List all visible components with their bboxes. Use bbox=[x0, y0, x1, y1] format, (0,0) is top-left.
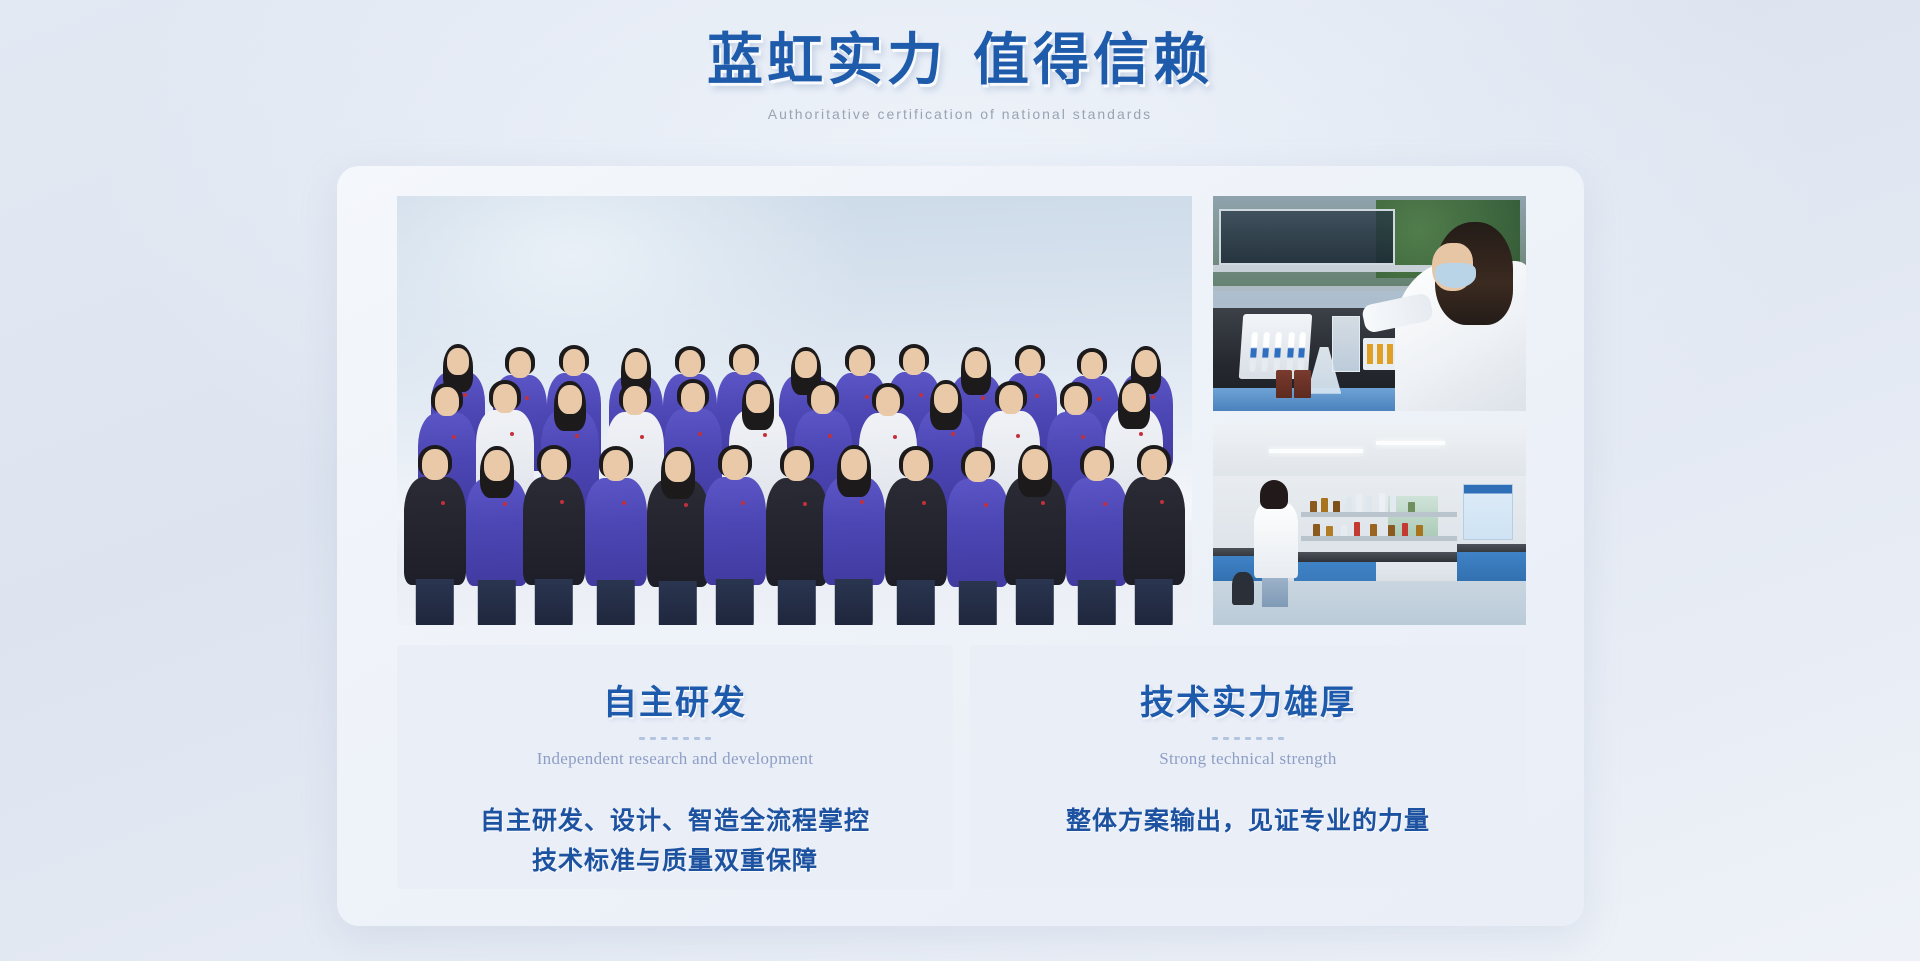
card-body-line2: 技术标准与质量双重保障 bbox=[480, 842, 870, 882]
group-photo-person bbox=[1004, 445, 1066, 623]
jacket-logo bbox=[575, 434, 579, 438]
person-legs bbox=[1015, 579, 1053, 625]
person-head bbox=[746, 384, 770, 413]
jacket-logo bbox=[893, 435, 897, 439]
content-panel: 自主研发 Independent research and developmen… bbox=[337, 166, 1584, 926]
person-head bbox=[934, 384, 958, 413]
divider-dash bbox=[694, 737, 700, 740]
lab1-glass-cabinet bbox=[1219, 209, 1394, 265]
person-head bbox=[1064, 386, 1088, 415]
person-head bbox=[603, 450, 629, 481]
group-photo-person bbox=[823, 445, 885, 623]
person-head bbox=[679, 350, 701, 377]
group-photo-person bbox=[523, 445, 585, 623]
card-subtitle: Independent research and development bbox=[537, 749, 814, 769]
divider-dash bbox=[650, 737, 656, 740]
lab2-researcher-jeans bbox=[1262, 576, 1288, 608]
jacket-logo bbox=[860, 500, 864, 504]
person-jacket bbox=[885, 478, 947, 586]
card-body: 整体方案输出，见证专业的力量 bbox=[1066, 802, 1430, 842]
page-title: 蓝虹实力值得信赖 bbox=[0, 28, 1920, 94]
reagent-bottle bbox=[1346, 497, 1352, 512]
person-head bbox=[795, 351, 817, 378]
divider-dash bbox=[1267, 737, 1273, 740]
person-head bbox=[665, 451, 691, 482]
jacket-logo bbox=[984, 503, 988, 507]
photo-gallery bbox=[397, 196, 1526, 625]
divider-dash bbox=[672, 737, 678, 740]
person-jacket bbox=[766, 478, 828, 586]
person-legs bbox=[715, 579, 753, 625]
person-legs bbox=[477, 580, 515, 625]
lab1-reagent-bottle bbox=[1294, 370, 1310, 398]
jacket-logo bbox=[640, 435, 644, 439]
lab1-pipette bbox=[1249, 332, 1258, 372]
divider-dash bbox=[1256, 737, 1262, 740]
jacket-logo bbox=[803, 502, 807, 506]
jacket-logo bbox=[828, 434, 832, 438]
promo-page: 蓝虹实力值得信赖 Authoritative certification of … bbox=[0, 0, 1920, 961]
person-head bbox=[1019, 349, 1041, 376]
lab1-pipette bbox=[1261, 332, 1270, 372]
person-legs bbox=[777, 580, 815, 625]
lab2-reagent-row-bottom bbox=[1307, 520, 1451, 536]
page-title-part2: 值得信赖 bbox=[973, 30, 1213, 92]
lab2-reagent-shelf bbox=[1301, 512, 1458, 517]
reagent-bottle bbox=[1326, 526, 1333, 536]
reagent-bottle bbox=[1390, 495, 1396, 512]
jacket-logo bbox=[698, 432, 702, 436]
feature-card-tech: 技术实力雄厚 Strong technical strength 整体方案输出，… bbox=[970, 645, 1526, 889]
card-title: 自主研发 bbox=[603, 675, 747, 724]
page-title-part1: 蓝虹实力 bbox=[707, 30, 947, 92]
lab2-researcher-hair bbox=[1260, 480, 1288, 509]
lab2-ceiling-light bbox=[1269, 449, 1363, 453]
jacket-logo bbox=[560, 500, 564, 504]
laboratory-room-photo bbox=[1213, 423, 1526, 625]
lab2-reagent-row-top bbox=[1307, 496, 1451, 512]
lab2-notice-poster bbox=[1463, 484, 1513, 541]
person-head bbox=[493, 384, 517, 413]
card-dashed-divider bbox=[639, 737, 711, 740]
divider-dash bbox=[1234, 737, 1240, 740]
person-head bbox=[1022, 449, 1048, 480]
person-head bbox=[733, 348, 755, 375]
person-legs bbox=[534, 579, 572, 626]
card-body-line1: 整体方案输出，见证专业的力量 bbox=[1066, 802, 1430, 842]
lab1-pipette bbox=[1297, 332, 1306, 372]
feature-card-rnd: 自主研发 Independent research and developmen… bbox=[397, 645, 953, 889]
reagent-bottle bbox=[1313, 524, 1320, 536]
divider-dash bbox=[683, 737, 689, 740]
person-legs bbox=[896, 580, 934, 625]
person-head bbox=[484, 450, 510, 481]
jacket-logo bbox=[1160, 500, 1164, 504]
card-dashed-divider bbox=[1212, 737, 1284, 740]
reagent-bottle bbox=[1356, 494, 1362, 512]
group-photo-person bbox=[1123, 445, 1185, 623]
person-head bbox=[681, 383, 705, 412]
group-photo-person bbox=[766, 446, 828, 624]
person-head bbox=[447, 348, 469, 375]
person-head bbox=[903, 348, 925, 375]
person-head bbox=[1081, 352, 1103, 379]
person-head bbox=[811, 385, 835, 414]
divider-dash bbox=[1223, 737, 1229, 740]
feature-cards: 自主研发 Independent research and developmen… bbox=[397, 645, 1526, 889]
person-jacket bbox=[704, 477, 766, 585]
person-head bbox=[903, 450, 929, 481]
reagent-bottle bbox=[1333, 501, 1340, 512]
jacket-logo bbox=[1041, 501, 1045, 505]
lab2-researcher bbox=[1254, 484, 1298, 605]
person-head bbox=[722, 449, 748, 480]
reagent-bottle bbox=[1388, 525, 1395, 536]
jacket-logo bbox=[1139, 432, 1143, 436]
lab1-sample-vial bbox=[1367, 344, 1373, 365]
group-photo-person bbox=[704, 445, 766, 623]
lab-technician-photo bbox=[1213, 196, 1526, 411]
jacket-logo bbox=[951, 432, 955, 436]
page-subtitle: Authoritative certification of national … bbox=[0, 106, 1920, 122]
person-jacket bbox=[1066, 478, 1128, 586]
group-photo-person bbox=[585, 446, 647, 624]
lab1-sample-vial bbox=[1377, 344, 1383, 365]
jacket-logo bbox=[503, 502, 507, 506]
divider-dash bbox=[661, 737, 667, 740]
group-photo-person bbox=[947, 447, 1009, 625]
lab1-beaker bbox=[1332, 316, 1360, 372]
lab2-researcher-coat bbox=[1254, 503, 1298, 578]
reagent-bottle bbox=[1321, 498, 1328, 512]
person-head bbox=[563, 349, 585, 376]
reagent-bottle bbox=[1354, 522, 1360, 536]
person-head bbox=[558, 385, 582, 414]
person-head bbox=[422, 449, 448, 480]
jacket-logo bbox=[510, 432, 514, 436]
person-head bbox=[876, 387, 900, 416]
person-head bbox=[965, 351, 987, 378]
person-jacket bbox=[947, 479, 1009, 587]
jacket-logo bbox=[684, 503, 688, 507]
divider-dash bbox=[705, 737, 711, 740]
person-head bbox=[1084, 450, 1110, 481]
jacket-logo bbox=[1081, 435, 1085, 439]
lab2-island-benchtop bbox=[1294, 552, 1457, 562]
divider-dash bbox=[639, 737, 645, 740]
lab1-pipette-stand bbox=[1239, 314, 1312, 379]
group-photo-person bbox=[647, 447, 709, 625]
group-photo-person bbox=[885, 446, 947, 624]
lab1-reagent-bottle bbox=[1276, 370, 1292, 398]
person-jacket bbox=[523, 477, 585, 585]
person-legs bbox=[958, 581, 996, 625]
team-group-photo bbox=[397, 196, 1192, 625]
person-legs bbox=[834, 579, 872, 626]
jacket-logo bbox=[741, 501, 745, 505]
person-head bbox=[784, 450, 810, 481]
jacket-logo bbox=[1016, 434, 1020, 438]
person-jacket bbox=[404, 477, 466, 585]
reagent-bottle bbox=[1379, 493, 1385, 512]
reagent-bottle bbox=[1310, 501, 1317, 512]
jacket-logo bbox=[922, 501, 926, 505]
lab1-scene bbox=[1213, 196, 1526, 411]
person-legs bbox=[1077, 580, 1115, 625]
page-header: 蓝虹实力值得信赖 Authoritative certification of … bbox=[0, 28, 1920, 122]
lab1-sample-vial bbox=[1387, 344, 1393, 365]
lab1-pipette bbox=[1286, 332, 1295, 372]
reagent-bottle bbox=[1370, 524, 1377, 537]
person-legs bbox=[658, 581, 696, 625]
person-head bbox=[1141, 449, 1167, 480]
person-head bbox=[1122, 383, 1146, 412]
person-head bbox=[965, 451, 991, 482]
jacket-logo bbox=[763, 433, 767, 437]
person-jacket bbox=[585, 478, 647, 586]
lab2-stool bbox=[1232, 572, 1254, 604]
jacket-logo bbox=[1103, 502, 1107, 506]
reagent-bottle bbox=[1402, 523, 1408, 536]
person-head bbox=[849, 349, 871, 376]
group-photo-person bbox=[1066, 446, 1128, 624]
reagent-bottle bbox=[1366, 496, 1372, 512]
card-body: 自主研发、设计、智造全流程掌控 技术标准与质量双重保障 bbox=[480, 802, 870, 881]
group-photo-person bbox=[404, 445, 466, 623]
card-subtitle: Strong technical strength bbox=[1159, 749, 1336, 769]
group-photo-person bbox=[466, 446, 528, 624]
person-head bbox=[1135, 350, 1157, 377]
jacket-logo bbox=[441, 501, 445, 505]
reagent-bottle bbox=[1416, 525, 1423, 536]
person-jacket bbox=[1123, 477, 1185, 585]
person-head bbox=[541, 449, 567, 480]
divider-dash bbox=[1212, 737, 1218, 740]
divider-dash bbox=[1245, 737, 1251, 740]
jacket-logo bbox=[452, 435, 456, 439]
card-title: 技术实力雄厚 bbox=[1140, 675, 1356, 724]
person-legs bbox=[1134, 579, 1172, 626]
divider-dash bbox=[1278, 737, 1284, 740]
person-head bbox=[841, 449, 867, 480]
lab2-ceiling bbox=[1213, 423, 1526, 476]
jacket-logo bbox=[622, 501, 626, 505]
reagent-bottle bbox=[1341, 525, 1347, 536]
lab1-pipette bbox=[1274, 332, 1283, 372]
card-body-line1: 自主研发、设计、智造全流程掌控 bbox=[480, 802, 870, 842]
person-head bbox=[623, 386, 647, 415]
reagent-bottle bbox=[1408, 502, 1415, 512]
person-head bbox=[435, 387, 459, 416]
lab2-ceiling-light bbox=[1376, 441, 1445, 445]
person-legs bbox=[596, 580, 634, 625]
lab2-scene bbox=[1213, 423, 1526, 625]
person-head bbox=[509, 351, 531, 378]
lab2-reagent-shelf bbox=[1301, 536, 1458, 541]
person-head bbox=[625, 352, 647, 379]
person-legs bbox=[415, 579, 453, 625]
person-head bbox=[999, 385, 1023, 414]
